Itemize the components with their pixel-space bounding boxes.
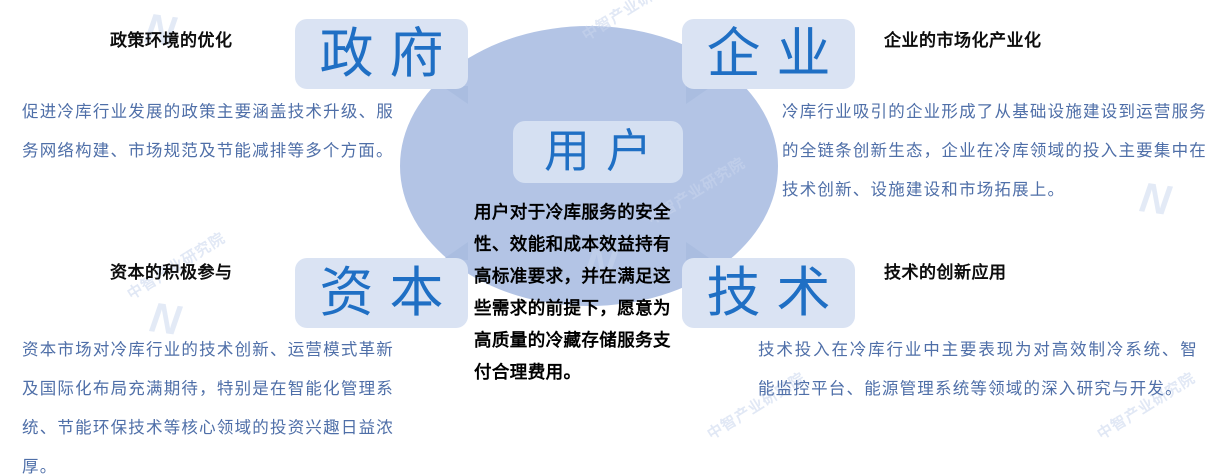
node-label-enterprise-text: 企业 — [691, 27, 847, 81]
node-label-user[interactable]: 用户 — [513, 121, 683, 183]
body-technology: 技术投入在冷库行业中主要表现为对高效制冷系统、智能监控平台、能源管理系统等领域的… — [758, 330, 1198, 408]
node-label-capital[interactable]: 资本 — [295, 258, 468, 328]
node-label-capital-text: 资本 — [304, 266, 460, 320]
heading-technology: 技术的创新应用 — [884, 258, 1007, 283]
diagram-canvas: 中智产业研究院 N 中智产业研究院 N 中智产业研究院 N 中智产业研究院 中智… — [0, 0, 1224, 476]
node-label-technology-text: 技术 — [691, 266, 847, 320]
body-user: 用户对于冷库服务的安全性、效能和成本效益持有高标准要求，并在满足这些需求的前提下… — [474, 196, 684, 388]
node-label-government-text: 政府 — [304, 27, 460, 81]
node-label-user-text: 用户 — [528, 129, 668, 175]
body-government: 促进冷库行业发展的政策主要涵盖技术升级、服务网络构建、市场规范及节能减排等多个方… — [22, 92, 394, 170]
heading-government: 政策环境的优化 — [110, 26, 233, 51]
body-enterprise: 冷库行业吸引的企业形成了从基础设施建设到运营服务的全链条创新生态，企业在冷库领域… — [782, 92, 1207, 209]
node-label-government[interactable]: 政府 — [295, 19, 468, 89]
body-capital: 资本市场对冷库行业的技术创新、运营模式革新及国际化布局充满期待，特别是在智能化管… — [22, 330, 394, 476]
heading-capital: 资本的积极参与 — [110, 258, 233, 283]
node-label-technology[interactable]: 技术 — [682, 258, 855, 328]
heading-enterprise: 企业的市场化产业化 — [884, 26, 1042, 51]
node-label-enterprise[interactable]: 企业 — [682, 19, 855, 89]
